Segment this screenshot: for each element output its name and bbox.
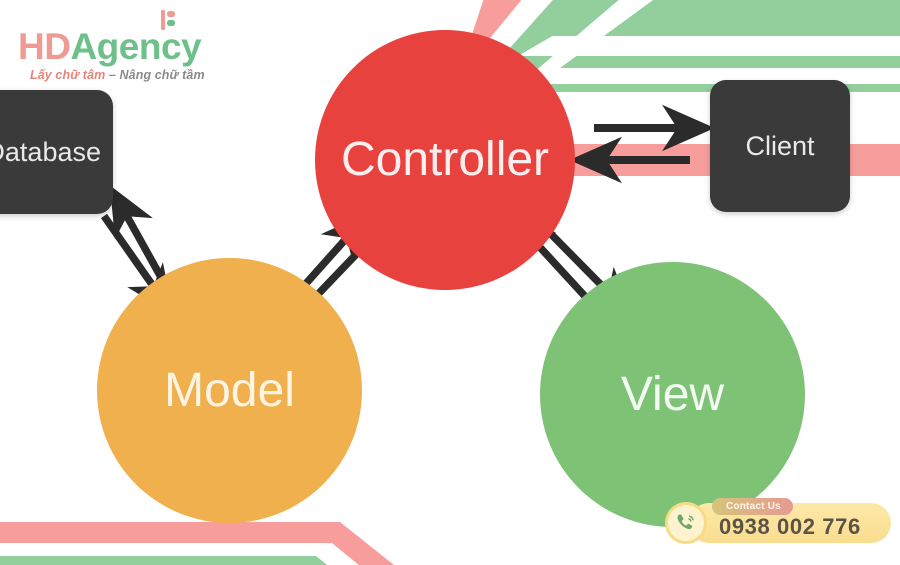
node-client[interactable]: Client <box>710 80 850 212</box>
node-database[interactable]: Database <box>0 90 113 214</box>
node-model-label: Model <box>164 367 295 415</box>
node-view-label: View <box>621 371 724 419</box>
edge-controller-client <box>594 128 690 160</box>
phone-ringing-icon[interactable] <box>665 502 707 544</box>
node-database-label: Database <box>0 139 101 166</box>
phone-glyph <box>674 511 698 535</box>
node-model[interactable]: Model <box>97 258 362 523</box>
diagram-canvas: HDAgency Lấy chữ tâm – Nâng chữ tầm <box>0 0 900 565</box>
contact-phone-number[interactable]: 0938 002 776 <box>719 514 861 540</box>
contact-badge[interactable]: Contact Us 0938 002 776 <box>665 500 891 546</box>
node-controller[interactable]: Controller <box>315 30 575 290</box>
contact-label: Contact Us <box>712 498 793 515</box>
node-view[interactable]: View <box>540 262 805 527</box>
node-client-label: Client <box>745 133 814 160</box>
node-controller-label: Controller <box>341 136 549 184</box>
